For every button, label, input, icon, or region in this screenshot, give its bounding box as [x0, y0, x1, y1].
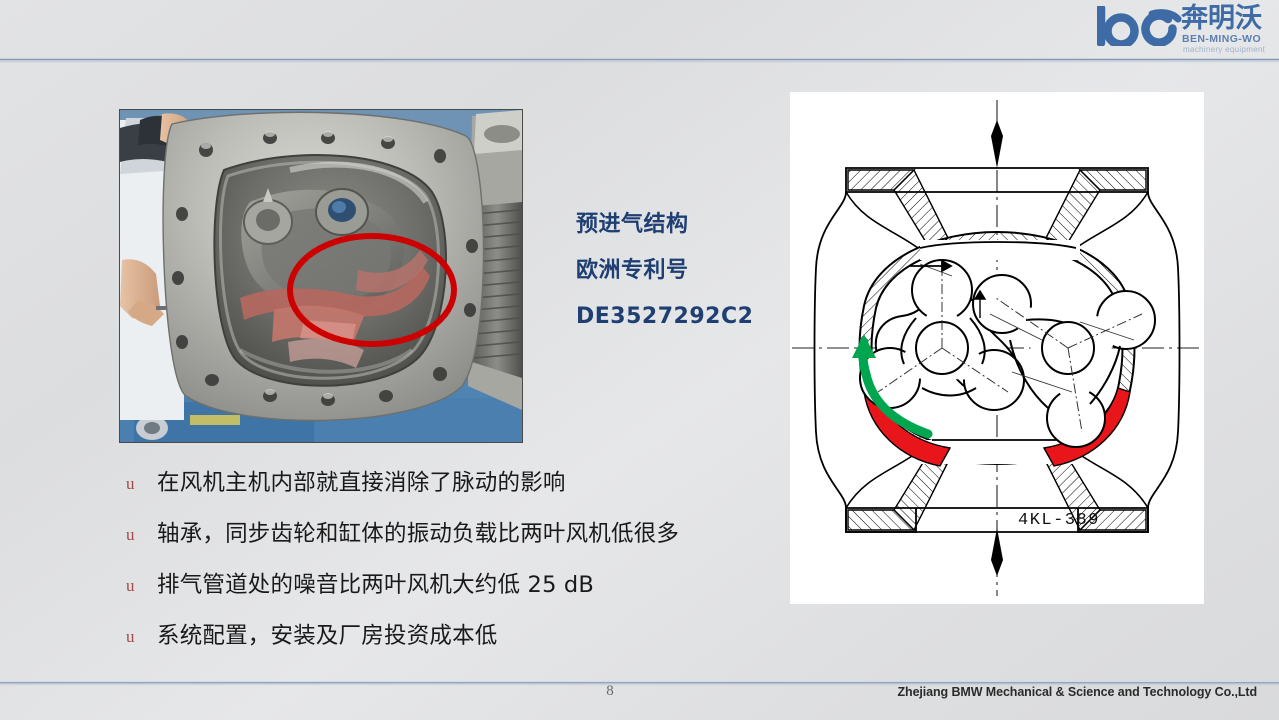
logo-romanized-name: BEN-MING-WO — [1182, 33, 1261, 45]
list-item: u 在风机主机内部就直接消除了脉动的影响 — [120, 458, 760, 509]
logo-tagline: machinery equipment — [1183, 45, 1265, 54]
blower-housing-photo — [119, 109, 523, 443]
bullet-text-2: 轴承，同步齿轮和缸体的振动负载比两叶风机低很多 — [157, 509, 679, 560]
bullet-marker-icon: u — [126, 611, 135, 662]
logo-chinese-name: 奔明沃 — [1181, 4, 1262, 34]
list-item: u 系统配置，安装及厂房投资成本低 — [120, 611, 760, 662]
company-logo: 奔明沃 BEN-MING-WO machinery equipment — [1097, 4, 1267, 56]
bullet-marker-icon: u — [126, 560, 135, 611]
diagram-label: 4KL-389 — [1018, 511, 1100, 530]
list-item: u 轴承，同步齿轮和缸体的振动负载比两叶风机低很多 — [120, 509, 760, 560]
footer-company-name: Zhejiang BMW Mechanical & Science and Te… — [898, 685, 1258, 699]
bullet-text-4: 系统配置，安装及厂房投资成本低 — [157, 611, 498, 662]
blower-cross-section-diagram: 4KL-389 — [790, 92, 1204, 604]
bullet-list: u 在风机主机内部就直接消除了脉动的影响 u 轴承，同步齿轮和缸体的振动负载比两… — [120, 458, 760, 662]
header-band — [0, 0, 1279, 60]
slide-canvas: 奔明沃 BEN-MING-WO machinery equipment — [0, 0, 1279, 720]
page-number: 8 — [598, 683, 622, 700]
header-divider-shadow — [0, 61, 1279, 63]
caption-line-patent-label: 欧洲专利号 — [576, 248, 816, 294]
diagram-content: 4KL-389 — [790, 92, 1204, 604]
photo-content — [120, 110, 522, 442]
bullet-marker-icon: u — [126, 509, 135, 560]
caption-line-patent-number: DE3527292C2 — [576, 294, 816, 340]
bullet-text-3: 排气管道处的噪音比两叶风机大约低 25 dB — [157, 560, 594, 611]
list-item: u 排气管道处的噪音比两叶风机大约低 25 dB — [120, 560, 760, 611]
caption-line-structure: 预进气结构 — [576, 202, 816, 248]
patent-caption: 预进气结构 欧洲专利号 DE3527292C2 — [576, 202, 816, 340]
bullet-text-1: 在风机主机内部就直接消除了脉动的影响 — [157, 458, 566, 509]
bo-monogram-icon — [1097, 6, 1183, 46]
bullet-marker-icon: u — [126, 458, 135, 509]
